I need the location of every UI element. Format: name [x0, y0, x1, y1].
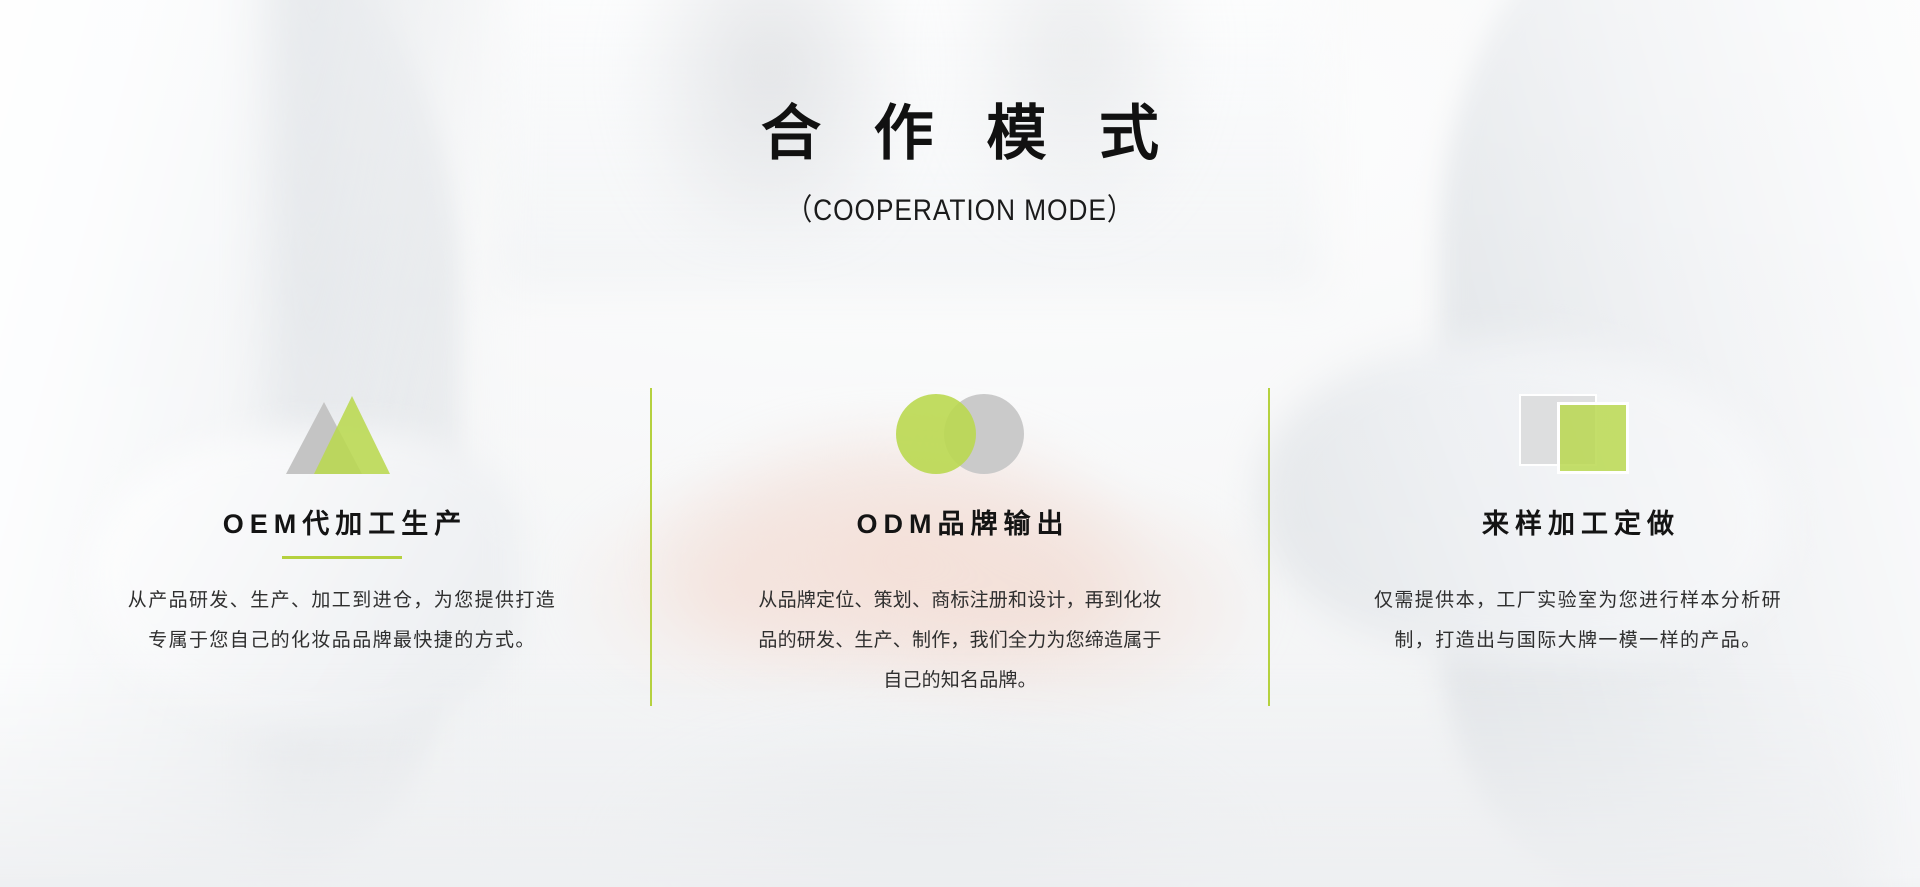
card-title: 来样加工定做	[1476, 502, 1680, 541]
card-description: 仅需提供本，工厂实验室为您进行样本分析研制，打造出与国际大牌一模一样的产品。	[1358, 581, 1798, 661]
triangle-green-shape	[314, 396, 390, 474]
cooperation-mode-card-sample[interactable]: 来样加工定做 仅需提供本，工厂实验室为您进行样本分析研制，打造出与国际大牌一模一…	[1298, 388, 1858, 661]
two-triangles-icon	[286, 396, 398, 474]
cooperation-mode-columns: OEM代加工生产 从产品研发、生产、加工到进仓，为您提供打造专属于您自己的化妆品…	[0, 388, 1920, 706]
card-icon-slot	[1519, 388, 1637, 474]
card-description: 从品牌定位、策划、商标注册和设计，再到化妆品的研发、生产、制作，我们全力为您缔造…	[750, 581, 1170, 701]
cooperation-mode-card-oem[interactable]: OEM代加工生产 从产品研发、生产、加工到进仓，为您提供打造专属于您自己的化妆品…	[62, 388, 622, 661]
card-underline-rule	[282, 556, 402, 559]
card-description: 从产品研发、生产、加工到进仓，为您提供打造专属于您自己的化妆品品牌最快捷的方式。	[122, 581, 562, 661]
cooperation-mode-banner: 合 作 模 式 （COOPERATION MODE） OEM代加工生产 从产品研…	[0, 0, 1920, 887]
page-title: 合 作 模 式	[0, 96, 1920, 171]
card-icon-slot	[286, 388, 398, 474]
banner-content: 合 作 模 式 （COOPERATION MODE） OEM代加工生产 从产品研…	[0, 0, 1920, 887]
two-squares-icon	[1519, 394, 1637, 474]
square-green-shape	[1557, 402, 1629, 474]
card-title: ODM品牌输出	[851, 502, 1070, 541]
banner-heading-block: 合 作 模 式 （COOPERATION MODE）	[0, 96, 1920, 229]
card-title: OEM代加工生产	[217, 502, 468, 541]
two-circles-icon	[896, 394, 1024, 474]
circle-green-shape	[896, 394, 976, 474]
page-subtitle: （COOPERATION MODE）	[115, 185, 1805, 229]
cooperation-mode-card-odm[interactable]: ODM品牌输出 从品牌定位、策划、商标注册和设计，再到化妆品的研发、生产、制作，…	[680, 388, 1240, 701]
card-icon-slot	[896, 388, 1024, 474]
column-divider-1	[650, 388, 652, 706]
column-divider-2	[1268, 388, 1270, 706]
